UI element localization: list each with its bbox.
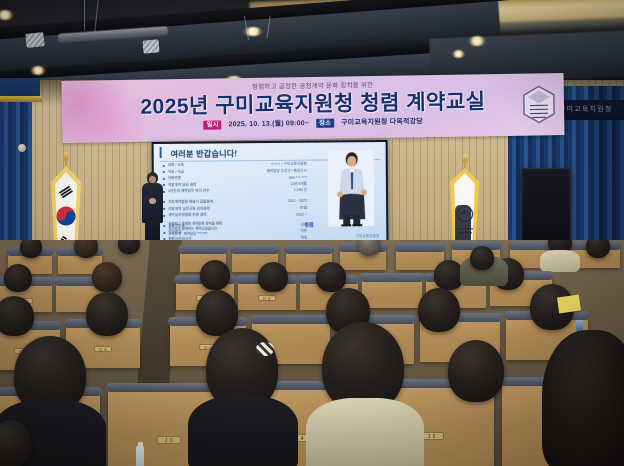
projection-screen: 여러분 반갑습니다! 성명 / 소속 ㅇㅇㅇ / 구미교육지원청 직위 / 직급… [152,140,389,246]
slide-footnotes: 공정하고 투명한 계약문화 정착을 위해 여러분과 함께하는 계약교실입니다 교… [168,221,300,237]
bullet-icon [163,165,165,167]
seat-number-plate: H 6 [258,295,276,301]
ceiling-wire-1 [84,0,85,30]
ceiling-downlight-6 [452,50,465,58]
slide-row-value: 054-***-**** [289,175,307,179]
slide-row: 계약심의위원회 위원 경력 2022 ~ [163,212,307,218]
audience-head [200,260,230,290]
bottle-cap [138,442,143,447]
audience-head [418,288,460,332]
slide-row: 성명 / 소속 ㅇㅇㅇ / 구미교육지원청 [163,162,307,168]
slide-footnote-highlight: 청렴 [304,222,313,229]
slide-row-label: 성명 / 소속 [168,163,184,168]
ceiling-downlight-1 [0,10,14,20]
audience-head [92,262,122,292]
event-banner: 청렴하고 공정한 공정계약 문화 정착을 위한 2025년 구미교육지원청 청렴… [62,73,565,143]
slide-row-label: 지방계약법령 해설서 집필참여 [168,199,213,204]
slide-organization-logo: 구미교육지원청 [355,233,379,238]
slide-row-label: 지방계약 담당 경력 [168,182,196,187]
slide-row: 전화번호 054-***-**** [163,175,307,181]
audience-head [358,240,380,256]
wall-speaker-dome [18,144,26,152]
slide-row-value: 2022 ~ [296,212,307,216]
rear-wall-sign-text: 구미교육지원청 [559,104,612,114]
seat-number-plate: J 3 [157,436,181,444]
slide-row-label: 전화번호 [168,176,181,181]
seat-number-plate: G 5 [94,346,112,352]
audience-shoulders [188,396,298,466]
presenter-portrait-photo [328,150,375,226]
audience-head [470,246,494,270]
hair-scrunchie [256,342,274,356]
slide-row-label: 직위 / 직급 [168,169,184,174]
monitor-screen [524,171,568,251]
seat-headrest [230,245,280,254]
audience-seating-area: G 3 H 5 H 6 [0,240,624,466]
ceiling-vent-1 [25,32,44,48]
slide-row-value: 2021 · 2023 [288,199,307,203]
audience-shoulders [306,398,424,466]
slide-row-value: 계약담당 주무관 / 행정주사 [266,168,306,173]
yellow-handout[interactable] [557,295,581,314]
slide-title-rule [160,147,162,158]
seat-headrest [394,243,446,252]
auditorium-photo-scene: 구미교육지원청 청렴하고 공정한 공정계약 문화 정착을 위한 2025년 구미… [0,0,624,466]
audience-shoulders [540,250,580,272]
slide-row-label: 1년간의 계약업무 처리 건수 [168,189,209,194]
presenter-hand [149,198,156,204]
slide-row-value: 87회 [300,205,307,210]
banner-date-text: 2025. 10. 13.(월) 09:00~ [228,118,309,129]
slide-row: 직위 / 직급 계약담당 주무관 / 행정주사 [163,168,307,174]
standing-presenter [141,172,165,248]
slide-row: 지방계약법령 해설서 집필참여 2021 · 2023 [163,199,307,205]
curtain-valance-gold-trim [0,96,42,102]
ceiling-vent-2 [142,39,159,53]
audience-head [118,240,140,254]
slide-row-value: 자문 [301,229,308,234]
audience-head [4,264,32,292]
slide-row-value: 11년 6개월 [290,182,307,187]
ceiling-downlight-3 [243,27,263,36]
audience-head [74,240,98,258]
slide-row-label: 지방계약 실무교육 강의경력 [168,206,210,211]
presenter-face [149,176,156,183]
slide-row: 1년간의 계약업무 처리 건수 1,140 건 [163,188,307,194]
seat[interactable] [362,278,422,308]
water-bottle[interactable] [136,446,144,466]
audience-head [258,262,288,292]
slide-title: 여러분 반갑습니다! [171,148,238,160]
rear-wall-sign: 구미교육지원청 [556,100,624,120]
ceiling-downlight-2 [30,66,46,75]
banner-date-pill: 일시 [204,120,222,129]
slide-row-value: 1,140 건 [294,188,307,193]
audience-head [0,296,34,336]
hexagon-emblem-icon [522,85,557,124]
foreground-silhouette-right [542,330,624,466]
seat-headrest [360,273,424,282]
seat-headrest [178,245,228,254]
audience-head [20,240,42,258]
banner-place-pill: 장소 [316,118,334,127]
seat-headrest [284,245,334,254]
slide-row: 지방계약 담당 경력 11년 6개월 [163,181,307,187]
ceiling-downlight-5 [468,36,486,46]
presentation-slide: 여러분 반갑습니다! 성명 / 소속 ㅇㅇㅇ / 구미교육지원청 직위 / 직급… [154,142,387,244]
audience-head [586,240,610,258]
slide-row: 지방계약 실무교육 강의경력 87회 [163,205,307,211]
audience-head [448,340,504,402]
banner-place-text: 구미교육지원청 다목적강당 [341,116,423,127]
audience-head [316,262,346,292]
slide-row-value: ㅇㅇㅇ / 구미교육지원청 [271,162,307,167]
audience-head [86,292,128,336]
seat-headrest [250,315,332,324]
slide-row-label: 계약심의위원회 위원 경력 [168,213,206,218]
